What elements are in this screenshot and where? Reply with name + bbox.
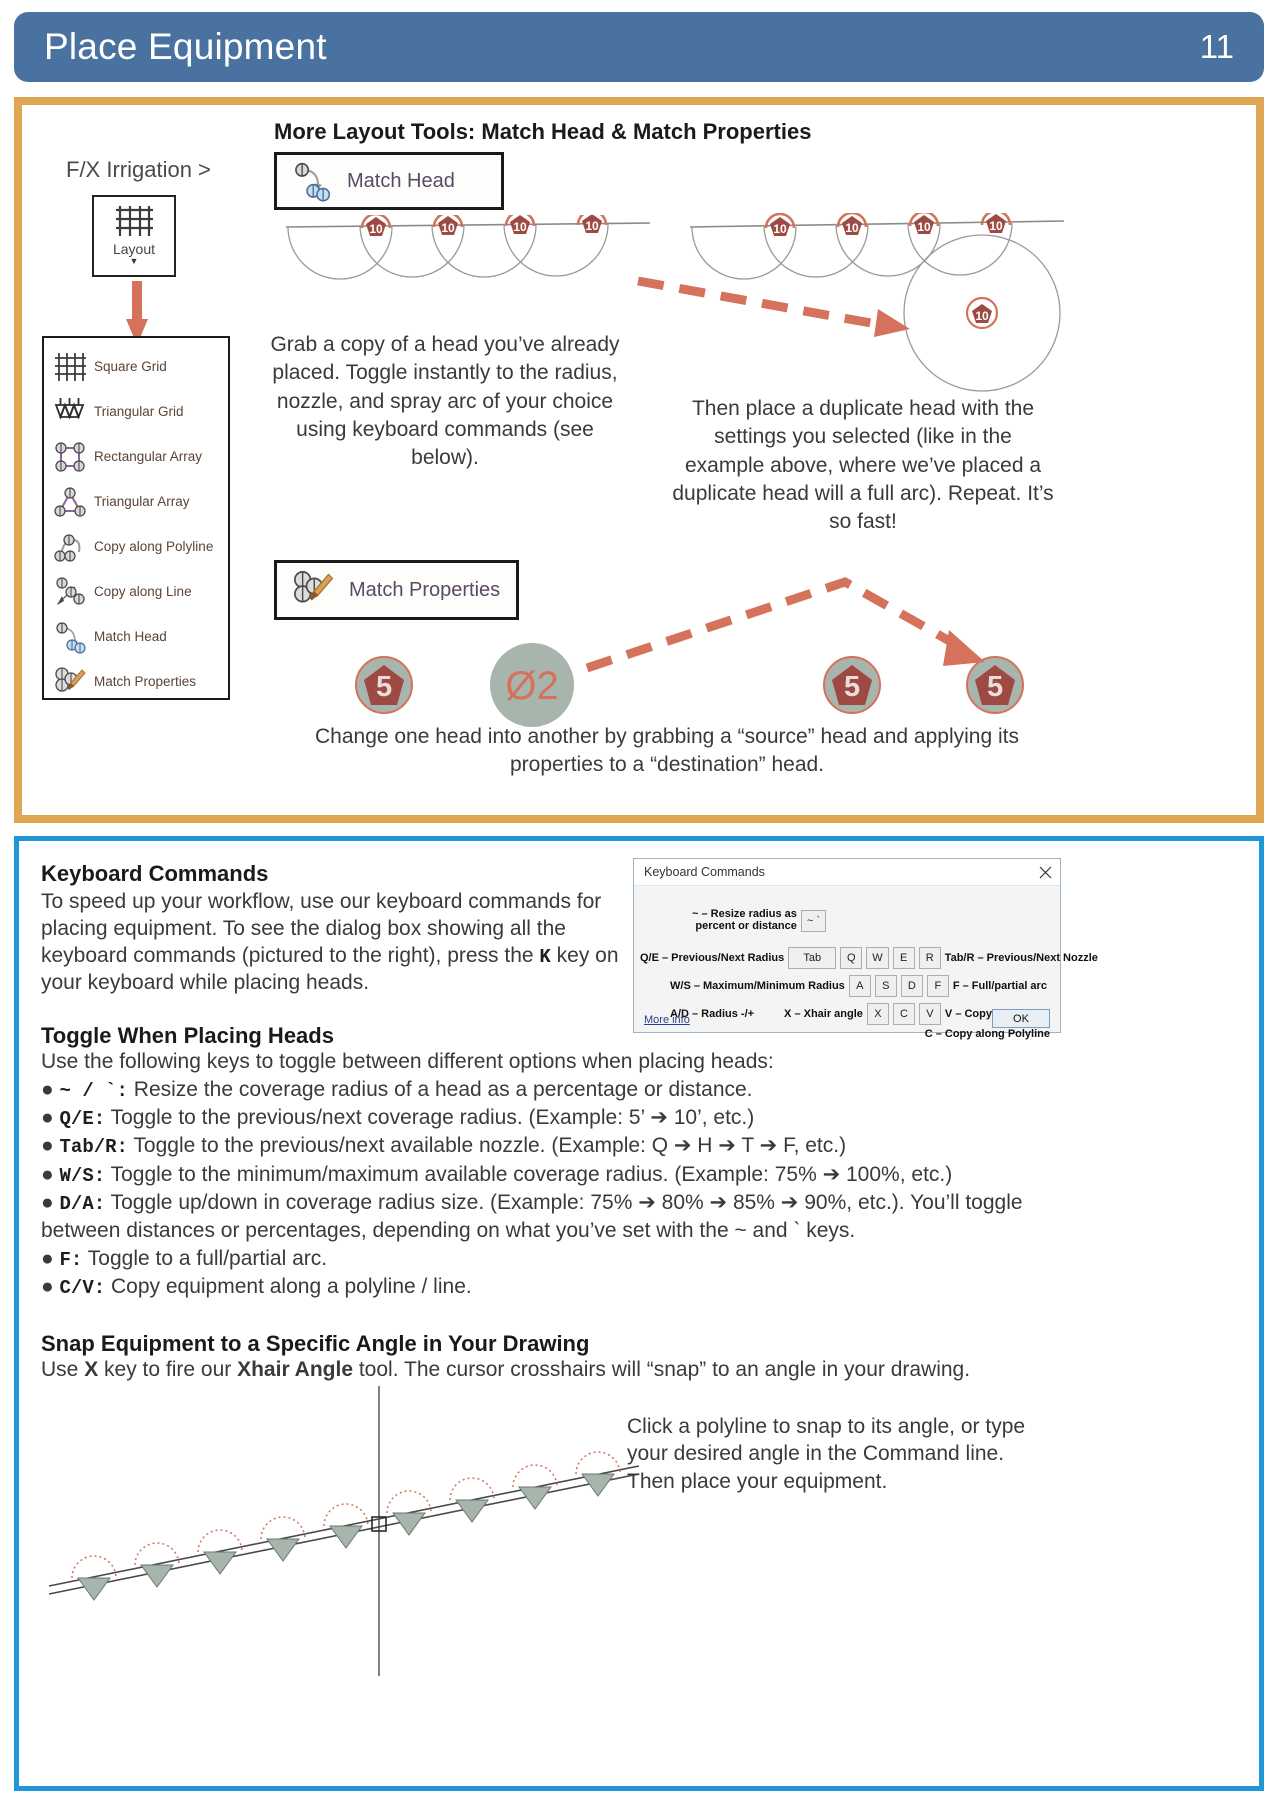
menu-item-triangular-array[interactable]: Triangular Array [44,479,228,524]
copy-along-polyline-icon [53,530,87,564]
bullet-key: C/V: [60,1277,106,1299]
bottom-panel: Keyboard Commands To speed up your workf… [14,836,1264,1791]
bullet-key: D/A: [60,1193,106,1215]
list-item: ● F: Toggle to a full/partial arc. [41,1245,1051,1273]
toggle-bullet-list: ● ~ / `: Resize the coverage radius of a… [41,1076,1051,1302]
menu-item-label: Triangular Grid [94,404,184,419]
bullet-text: Toggle to the previous/next coverage rad… [105,1106,754,1129]
dialog-key-v[interactable]: V [919,1003,941,1025]
list-item: ● Q/E: Toggle to the previous/next cover… [41,1104,1051,1132]
close-icon[interactable] [1039,866,1052,879]
kb-text-1: To speed up your workflow, use our keybo… [41,890,601,967]
menu-item-label: Copy along Line [94,584,192,599]
svg-text:10: 10 [845,221,859,235]
match-head-icon [53,620,87,654]
snap-text: Use X key to fire our Xhair Angle tool. … [41,1357,1061,1384]
xhair-angle-drawing [39,1386,649,1686]
dialog-note-row2: F – Full/partial arc [953,980,1047,992]
dialog-key-r[interactable]: R [919,947,941,969]
match-head-icon [291,160,333,202]
bullet-key: F: [60,1249,83,1271]
bullet-key: ~ / `: [60,1080,128,1102]
dialog-key-q[interactable]: Q [840,947,862,969]
svg-text:10: 10 [441,221,455,235]
layout-button[interactable]: Layout ▼ [92,195,176,277]
copy-along-line-icon [53,575,87,609]
snap-side-text: Click a polyline to snap to its angle, o… [627,1413,1047,1495]
square-grid-icon [114,203,154,239]
dialog-key-tilde[interactable]: ~ ` [801,910,826,932]
svg-text:10: 10 [989,219,1003,233]
dialog-row-ws-label: W/S – Maximum/Minimum Radius [670,980,845,992]
snap-text-pre: Use [41,1358,84,1381]
list-item: ● Tab/R: Toggle to the previous/next ava… [41,1132,1051,1160]
keyboard-commands-dialog[interactable]: Keyboard Commands ~ – Resize radius as p… [633,858,1061,1033]
layout-dropdown-menu[interactable]: Square Grid Triangular Grid [42,336,230,700]
snap-heading: Snap Equipment to a Specific Angle in Yo… [41,1331,1061,1357]
dialog-tilde-label-2: percent or distance [692,920,797,932]
keyboard-commands-text: To speed up your workflow, use our keybo… [41,889,621,997]
match-head-tool-label: Match Head [347,170,455,193]
sprinkler-row-diagram-left: 10 10 10 10 [278,215,658,335]
dialog-key-a[interactable]: A [849,975,871,997]
snap-text-post: tool. The cursor crosshairs will “snap” … [353,1358,970,1381]
bullet-text: Copy equipment along a polyline / line. [105,1275,472,1298]
dialog-key-e[interactable]: E [893,947,915,969]
page-header: Place Equipment 11 [14,12,1264,82]
keyboard-commands-heading: Keyboard Commands [41,861,621,887]
svg-text:10: 10 [773,222,787,236]
layout-button-label: Layout [113,241,155,257]
svg-text:10: 10 [917,220,931,234]
toggle-block: Toggle When Placing Heads Use the follow… [41,1023,1051,1302]
dialog-key-x[interactable]: X [867,1003,889,1025]
svg-text:10: 10 [513,220,527,234]
top-panel: F/X Irrigation > Layout ▼ [14,97,1264,823]
spray-head-group [72,1452,620,1600]
match-properties-tool-button[interactable]: Match Properties [274,560,519,620]
dialog-tilde-label-1: ~ – Resize radius as [692,908,797,920]
menu-item-match-properties[interactable]: Match Properties [44,659,228,704]
match-properties-icon [291,568,335,612]
menu-item-triangular-grid[interactable]: Triangular Grid [44,389,228,434]
toggle-heading: Toggle When Placing Heads [41,1023,1051,1049]
dialog-body: ~ – Resize radius as percent or distance… [634,886,1060,1034]
caption-right: Then place a duplicate head with the set… [672,395,1054,537]
bullet-text: Toggle up/down in coverage radius size. … [41,1191,1023,1242]
dialog-key-d[interactable]: D [901,975,923,997]
keyboard-commands-block: Keyboard Commands To speed up your workf… [41,861,621,997]
menu-item-rectangular-array[interactable]: Rectangular Array [44,434,228,479]
svg-text:10: 10 [975,309,989,323]
dialog-key-c[interactable]: C [893,1003,915,1025]
dialog-title: Keyboard Commands [644,865,765,879]
bullet-key: Q/E: [60,1108,106,1130]
menu-item-copy-along-line[interactable]: Copy along Line [44,569,228,614]
menu-item-label: Match Head [94,629,167,644]
dialog-key-f[interactable]: F [927,975,949,997]
triangular-array-icon [53,485,87,519]
toggle-intro: Use the following keys to toggle between… [41,1049,1051,1076]
dialog-row-qe-label: Q/E – Previous/Next Radius [640,952,784,964]
menu-item-copy-along-polyline[interactable]: Copy along Polyline [44,524,228,569]
snap-tool-name: Xhair Angle [237,1358,353,1381]
match-head-tool-button[interactable]: Match Head [274,152,504,210]
list-item: ● W/S: Toggle to the minimum/maximum ava… [41,1161,1051,1189]
snap-text-mid: key to fire our [98,1358,237,1381]
dialog-row-x-label: X – Xhair angle [784,1008,863,1020]
bullet-text: Resize the coverage radius of a head as … [128,1078,753,1101]
bullet-key: Tab/R: [60,1136,128,1158]
list-item: ● C/V: Copy equipment along a polyline /… [41,1273,1051,1301]
menu-item-square-grid[interactable]: Square Grid [44,344,228,389]
kb-key-k: K [539,946,550,968]
menu-item-label: Match Properties [94,674,196,689]
dashed-arrow-right-icon [630,273,920,343]
dashed-chevron-arrow-icon [577,570,997,680]
svg-text:Ø2: Ø2 [505,664,558,708]
match-properties-icon [53,665,87,699]
caption-bottom: Change one head into another by grabbing… [272,723,1062,780]
bullet-text: Toggle to the minimum/maximum available … [105,1163,952,1186]
section-title: More Layout Tools: Match Head & Match Pr… [274,119,811,145]
list-item: ● ~ / `: Resize the coverage radius of a… [41,1076,1051,1104]
square-grid-icon [53,350,87,384]
snap-block: Snap Equipment to a Specific Angle in Yo… [41,1331,1061,1384]
menu-item-label: Rectangular Array [94,449,202,464]
svg-text:10: 10 [585,219,599,233]
triangular-grid-icon [53,395,87,429]
bullet-key: W/S: [60,1165,106,1187]
menu-item-match-head[interactable]: Match Head [44,614,228,659]
dialog-key-w[interactable]: W [866,947,888,969]
bullet-text: Toggle to the previous/next available no… [128,1134,846,1157]
bullet-text: Toggle to a full/partial arc. [82,1247,327,1270]
menu-item-label: Square Grid [94,359,167,374]
list-item: ● D/A: Toggle up/down in coverage radius… [41,1189,1051,1245]
page-number: 11 [1200,28,1234,66]
snap-key-x: X [84,1358,98,1381]
svg-text:5: 5 [376,671,392,703]
match-properties-tool-label: Match Properties [349,579,500,602]
page-title: Place Equipment [44,26,327,68]
dialog-key-tab[interactable]: Tab [788,947,836,969]
menu-item-label: Copy along Polyline [94,539,213,554]
dialog-titlebar: Keyboard Commands [634,859,1060,886]
breadcrumb: F/X Irrigation > [66,157,211,183]
menu-item-label: Triangular Array [94,494,190,509]
svg-text:10: 10 [369,222,383,236]
dialog-note-row1: Tab/R – Previous/Next Nozzle [945,952,1098,964]
rectangular-array-icon [53,440,87,474]
chevron-down-icon: ▼ [130,258,139,264]
dialog-key-s[interactable]: S [875,975,897,997]
caption-left: Grab a copy of a head you’ve already pla… [262,331,628,473]
